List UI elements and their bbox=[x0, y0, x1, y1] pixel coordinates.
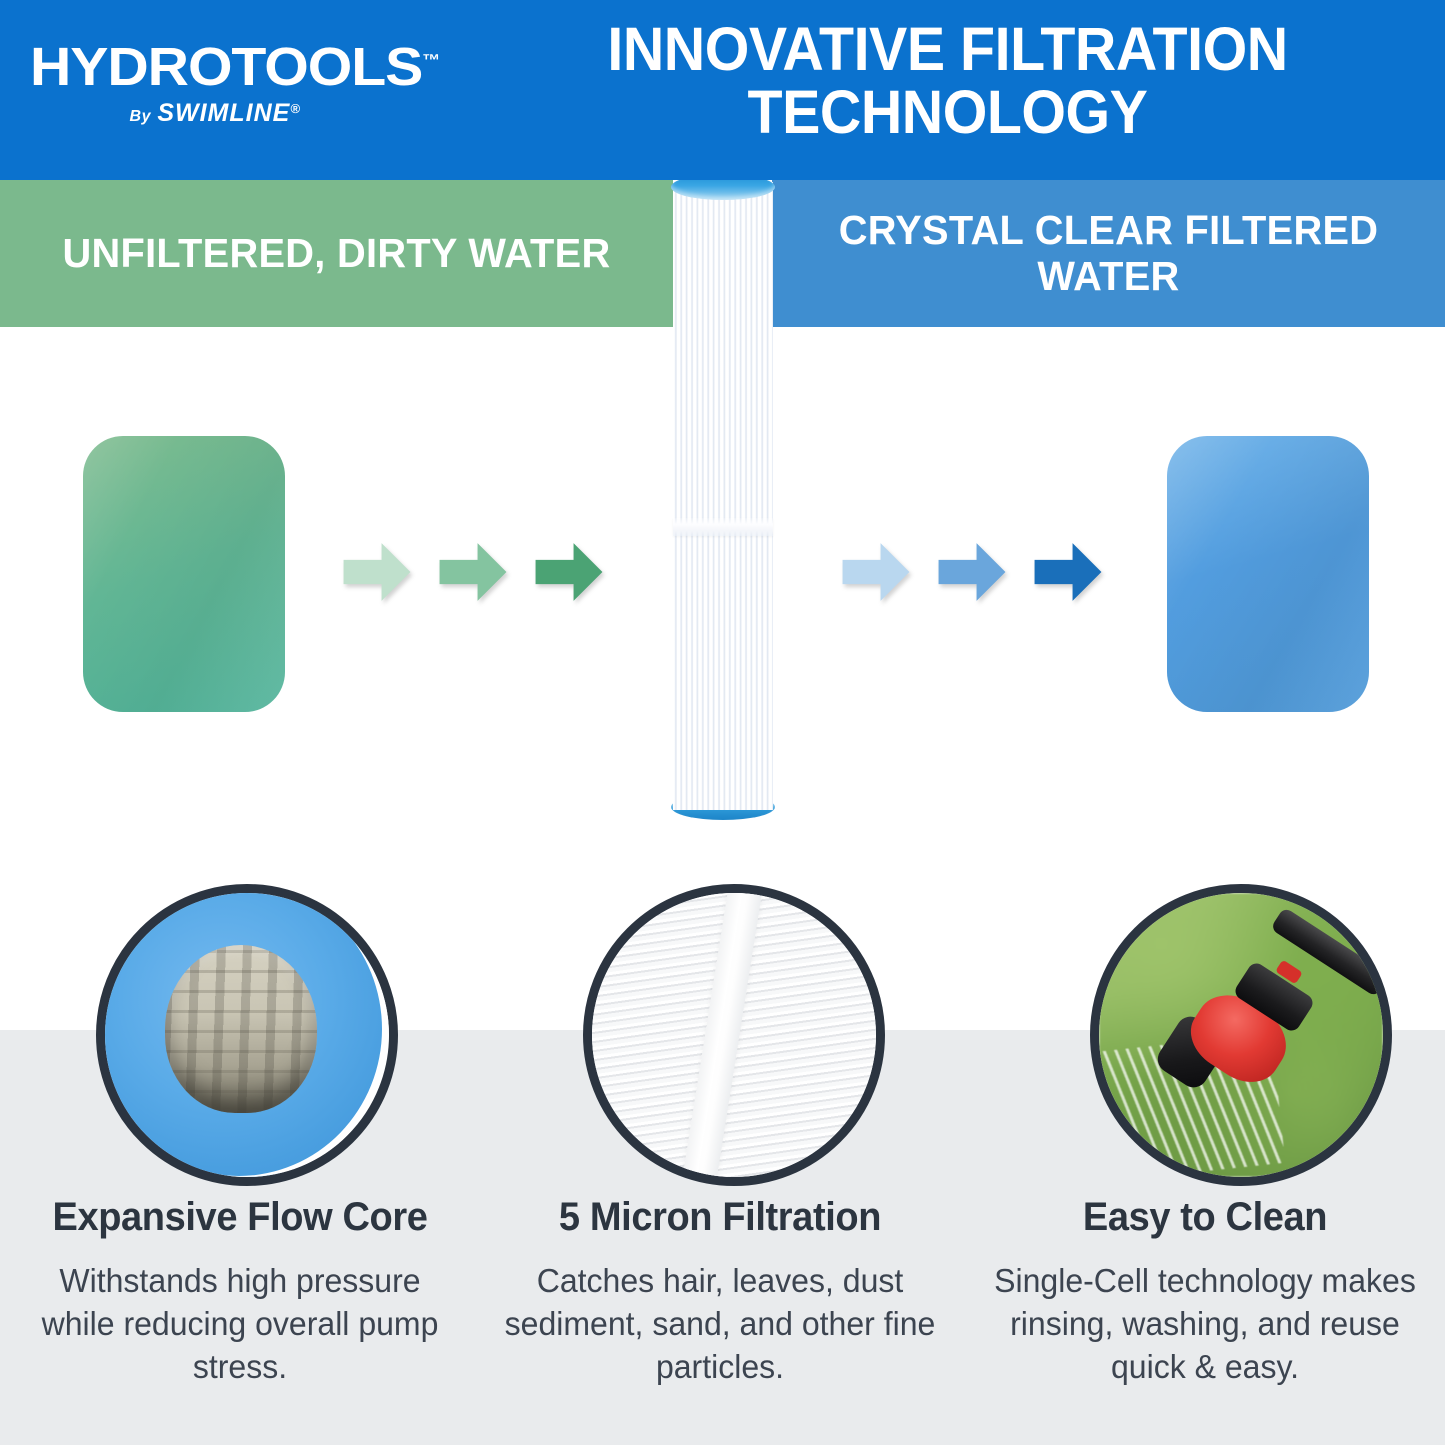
banner-unfiltered-water: UNFILTERED, DIRTY WATER bbox=[0, 180, 673, 327]
trademark-icon: ™ bbox=[422, 51, 440, 70]
feature-description: Withstands high pressure while reducing … bbox=[7, 1260, 473, 1389]
arrow-right-icon bbox=[531, 533, 607, 611]
feature-column-flow-core: Expansive Flow Core Withstands high pres… bbox=[0, 1196, 480, 1389]
dirty-green-water-swatch bbox=[83, 436, 285, 712]
feature-title: Expansive Flow Core bbox=[12, 1196, 468, 1238]
feature-title: Easy to Clean bbox=[977, 1196, 1433, 1238]
banner-filtered-water: CRYSTAL CLEAR FILTERED WATER bbox=[772, 180, 1445, 327]
arrow-right-icon bbox=[838, 533, 914, 611]
infographic-canvas: HYDROTOOLS™ By SWIMLINE® INNOVATIVE FILT… bbox=[0, 0, 1445, 1445]
pleated-media-photo bbox=[592, 893, 876, 1177]
page-title: INNOVATIVE FILTRATION TECHNOLOGY bbox=[499, 18, 1397, 145]
brand-logo: HYDROTOOLS™ By SWIMLINE® bbox=[30, 40, 430, 128]
filter-pleated-media bbox=[673, 182, 773, 810]
feature-column-micron-filtration: 5 Micron Filtration Catches hair, leaves… bbox=[480, 1196, 960, 1389]
clear-blue-water-swatch bbox=[1167, 436, 1369, 712]
hose-nozzle-photo bbox=[1099, 893, 1383, 1177]
feature-image-flow-core bbox=[96, 884, 398, 1186]
header-bar: HYDROTOOLS™ By SWIMLINE® INNOVATIVE FILT… bbox=[0, 0, 1445, 180]
flow-core-photo bbox=[105, 893, 389, 1177]
feature-description: Catches hair, leaves, dust sediment, san… bbox=[487, 1260, 953, 1389]
feature-column-easy-to-clean: Easy to Clean Single-Cell technology mak… bbox=[965, 1196, 1445, 1389]
registered-icon: ® bbox=[290, 101, 300, 116]
feature-image-easy-to-clean bbox=[1090, 884, 1392, 1186]
core-slot-pattern bbox=[165, 945, 317, 1113]
banner-filtered-label: CRYSTAL CLEAR FILTERED WATER bbox=[782, 208, 1435, 300]
banner-unfiltered-label: UNFILTERED, DIRTY WATER bbox=[62, 231, 610, 277]
arrow-right-icon bbox=[339, 533, 415, 611]
logo-by-text: By bbox=[130, 108, 151, 125]
filter-core-opening bbox=[165, 945, 317, 1113]
logo-wordmark: HYDROTOOLS™ bbox=[30, 40, 454, 94]
arrow-right-icon bbox=[934, 533, 1010, 611]
feature-image-micron-filtration bbox=[583, 884, 885, 1186]
blue-arrow-group bbox=[838, 533, 1106, 611]
logo-swimline-text: SWIMLINE bbox=[157, 99, 290, 127]
feature-description: Single-Cell technology makes rinsing, wa… bbox=[972, 1260, 1438, 1389]
logo-wordmark-text: HYDROTOOLS bbox=[30, 37, 422, 97]
arrow-right-icon bbox=[1030, 533, 1106, 611]
feature-title: 5 Micron Filtration bbox=[492, 1196, 948, 1238]
pleated-filter-cartridge bbox=[671, 170, 775, 820]
green-arrow-group bbox=[339, 533, 607, 611]
filter-center-band bbox=[673, 518, 773, 536]
arrow-right-icon bbox=[435, 533, 511, 611]
logo-subtitle: By SWIMLINE® bbox=[30, 99, 400, 128]
